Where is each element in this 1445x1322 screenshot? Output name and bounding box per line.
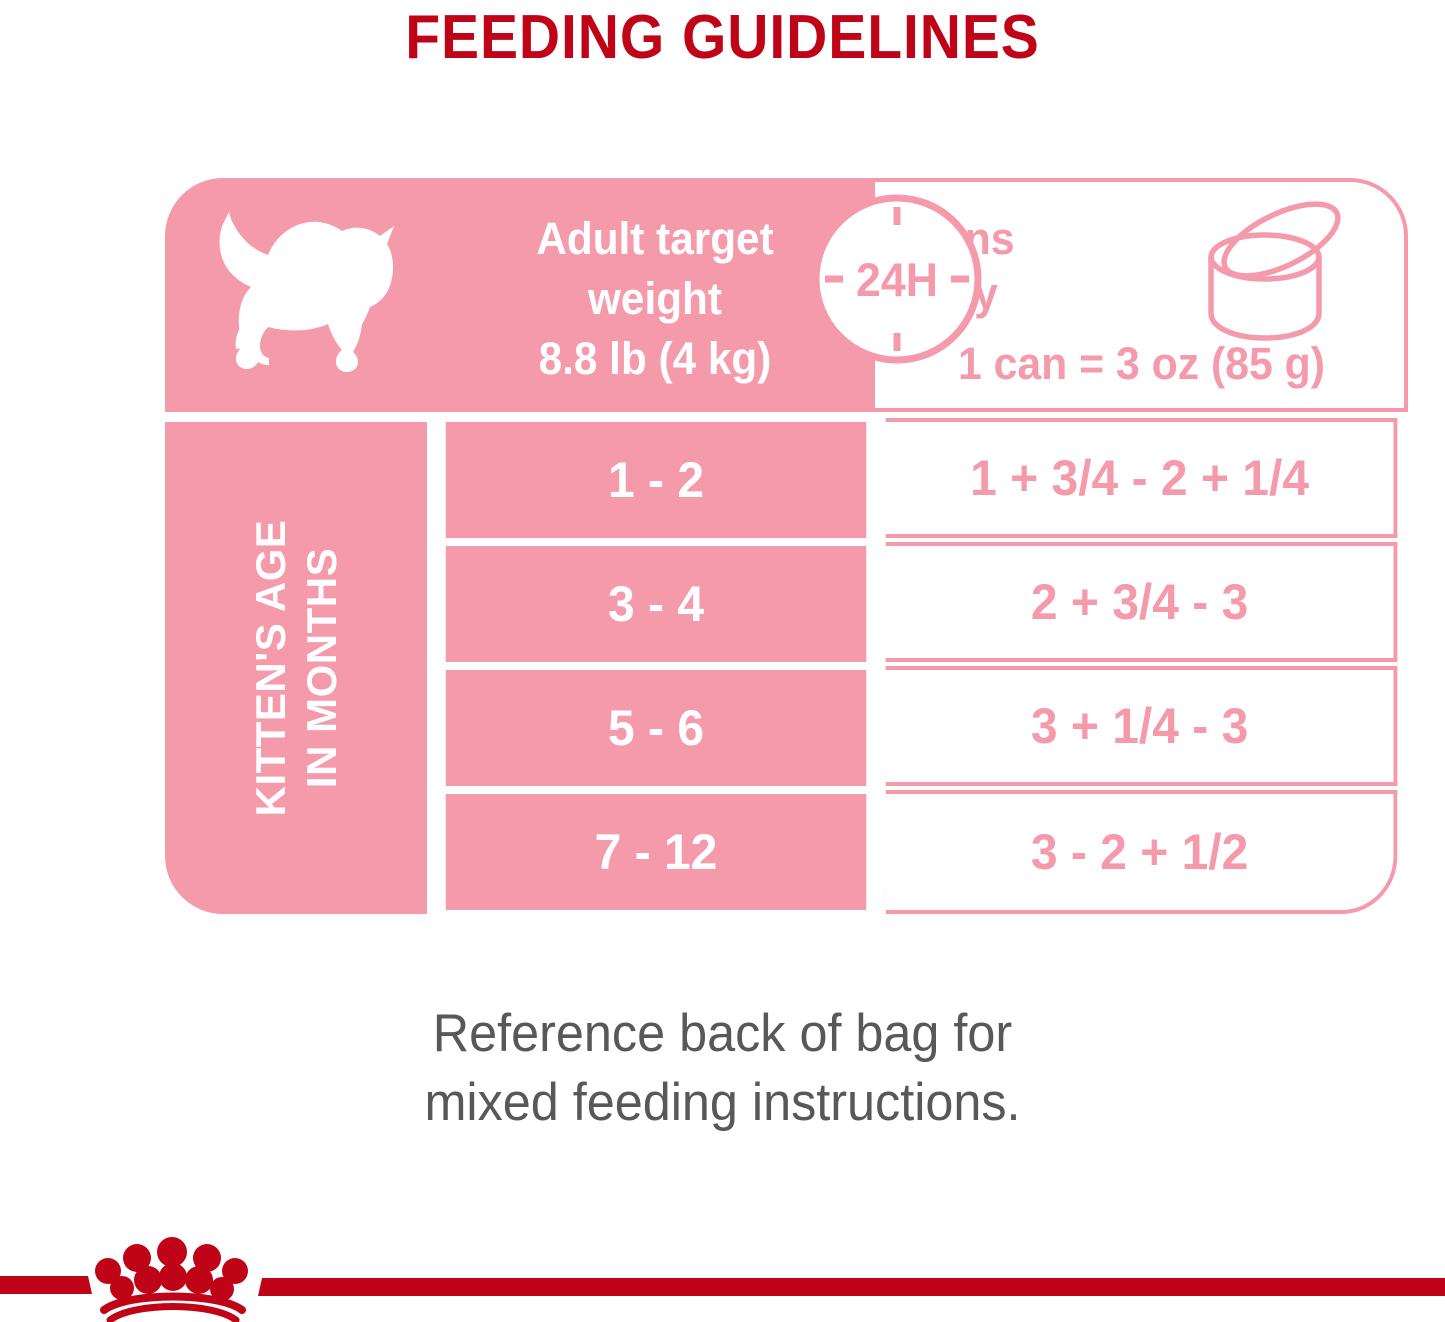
table-row-age-3: 5 - 6 (446, 670, 866, 786)
table-row-age-2: 3 - 4 (446, 546, 866, 662)
table-row-age-4: 7 - 12 (446, 794, 866, 910)
duration-badge-label: 24H (812, 189, 983, 369)
table-row-cans-1: 1 + 3/4 - 2 + 1/4 (886, 418, 1398, 538)
adult-target-weight: Adult target weight 8.8 lb (4 kg) (448, 204, 862, 394)
table-row-cans-3: 3 + 1/4 - 3 (886, 666, 1398, 786)
footer-note: Reference back of bag for mixed feeding … (36, 1000, 1409, 1138)
table-row-age-1: 1 - 2 (446, 422, 866, 538)
feeding-guidelines-table: Adult target weight 8.8 lb (4 kg) 24H Ca… (165, 178, 1408, 914)
royal-canin-logo (0, 1232, 1445, 1322)
open-can-icon (1185, 196, 1365, 346)
page-title: FEEDING GUIDELINES (58, 2, 1387, 73)
kitten-icon (195, 212, 435, 392)
table-row-cans-2: 2 + 3/4 - 3 (886, 542, 1398, 662)
age-column-label: KITTEN'S AGE IN MONTHS (165, 422, 427, 914)
table-row-cans-4: 3 - 2 + 1/2 (886, 790, 1398, 914)
